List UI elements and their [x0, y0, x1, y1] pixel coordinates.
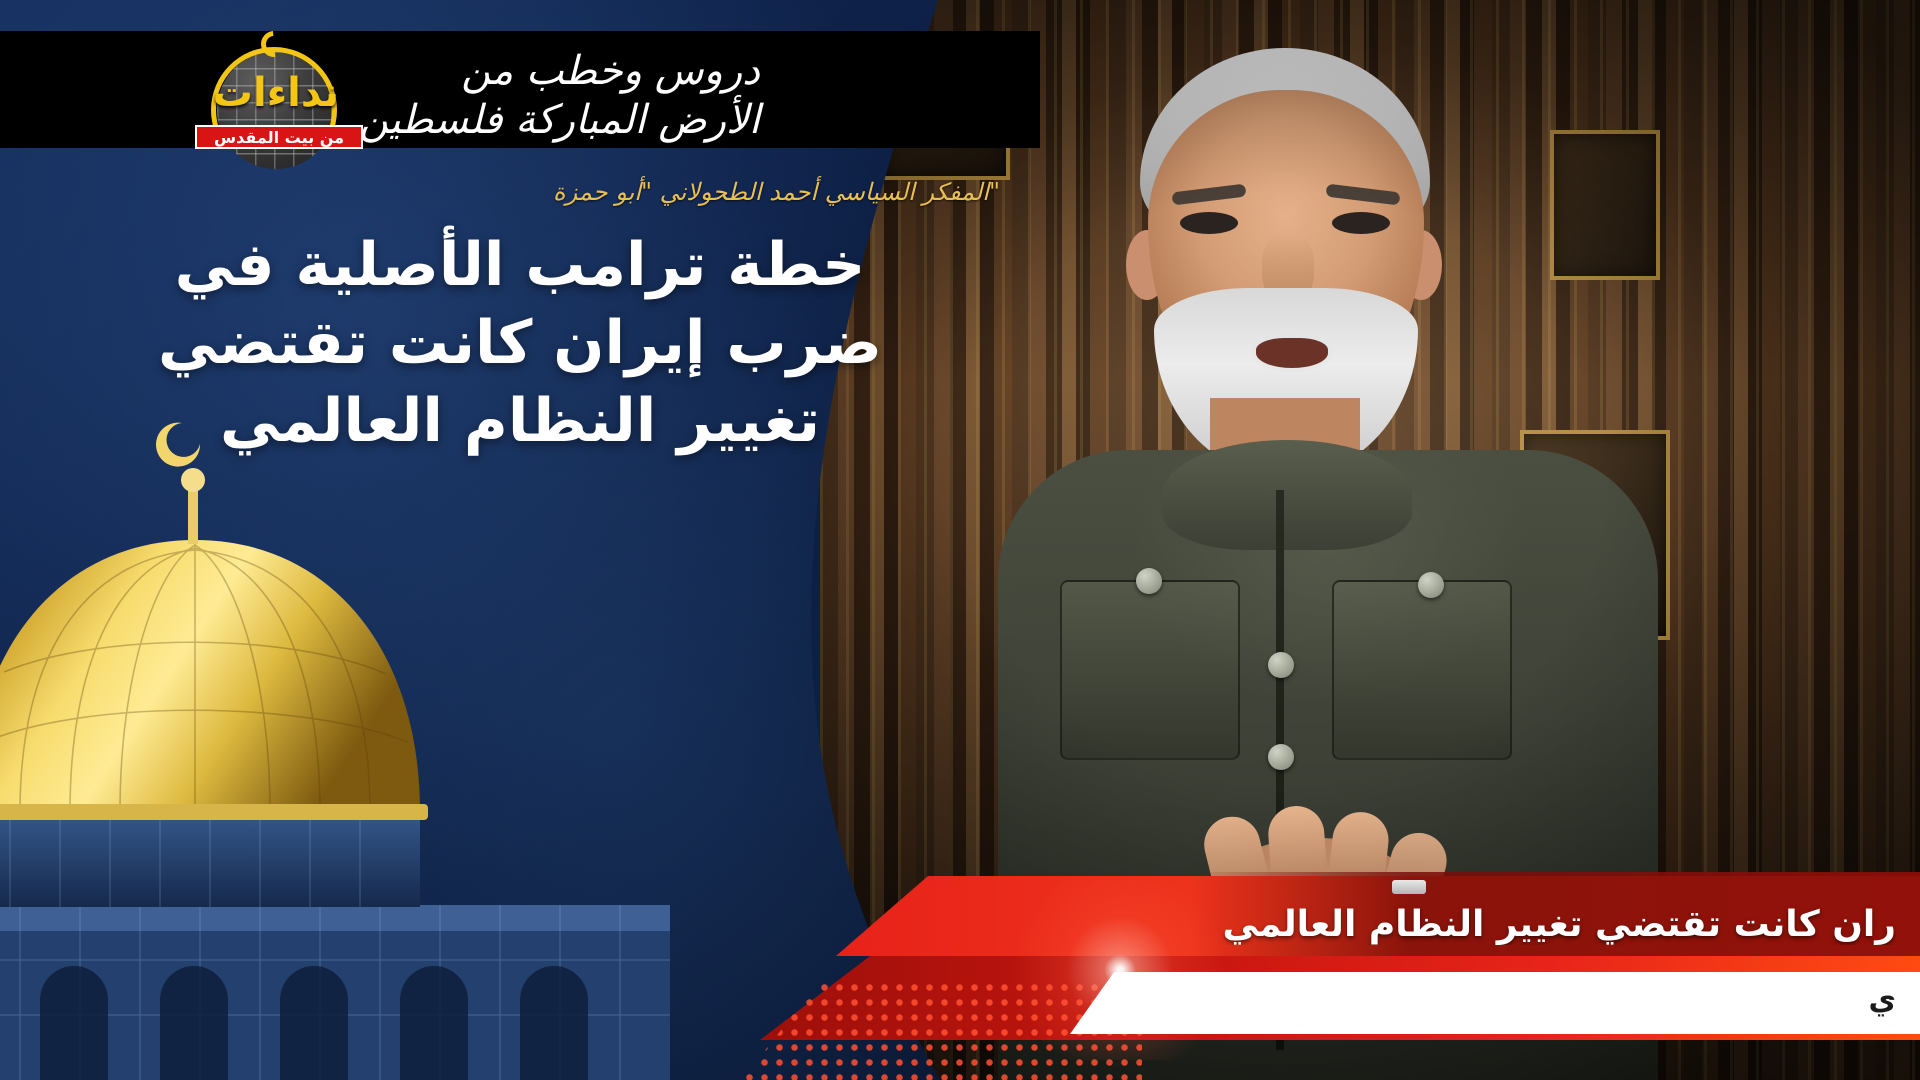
ticker-notch	[1392, 880, 1426, 894]
logo-badge: من بيت المقدس	[195, 125, 363, 149]
broadcast-overlay-stage: دروس وخطب من الأرض المباركة فلسطين نداءا…	[0, 0, 1920, 1080]
speaker-credit: "المفكر السياسي أحمد الطحولاني "أبو حمزة	[100, 178, 1000, 206]
channel-logo[interactable]: نداءات من بيت المقدس	[195, 33, 365, 148]
ticker-subline-text: ي	[1076, 982, 1896, 1017]
logo-wordmark: نداءات	[219, 73, 339, 113]
lower-third-ticker: ران كانت تقتضي تغيير النظام العالمي ي	[0, 860, 1920, 1080]
ticker-headline-text: ران كانت تقتضي تغيير النظام العالمي	[896, 904, 1896, 945]
main-headline: خطة ترامب الأصلية في ضرب إيران كانت تقتض…	[120, 226, 920, 460]
top-channel-banner: دروس وخطب من الأرض المباركة فلسطين نداءا…	[0, 31, 1040, 148]
